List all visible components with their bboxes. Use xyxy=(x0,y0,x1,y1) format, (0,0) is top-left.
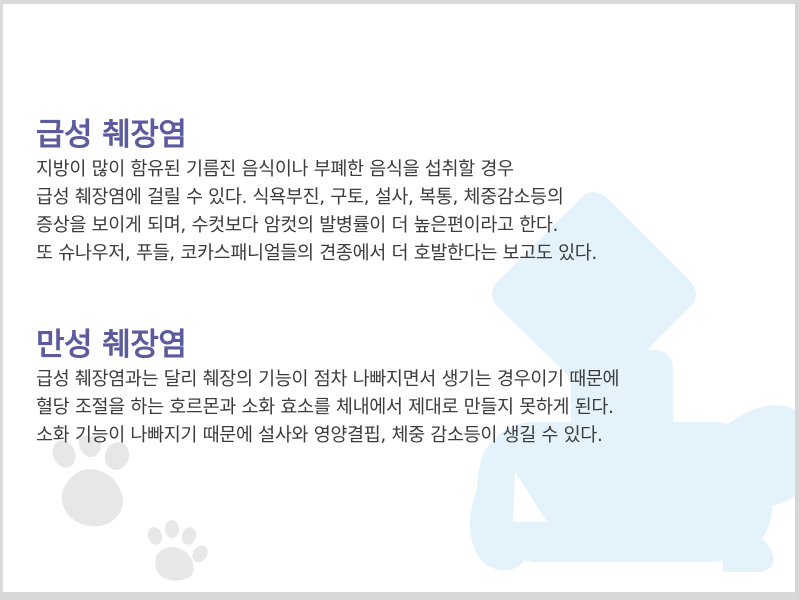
section-chronic-heading: 만성 췌장염 xyxy=(36,326,776,364)
body-line: 지방이 많이 함유된 기름진 음식이나 부폐한 음식을 섭취할 경우 xyxy=(36,156,776,184)
paw-print-small-icon xyxy=(144,519,210,585)
section-acute-body: 지방이 많이 함유된 기름진 음식이나 부폐한 음식을 섭취할 경우 급성 췌장… xyxy=(36,156,776,268)
body-line: 증상을 보이게 되며, 수컷보다 암컷의 발병률이 더 높은편이라고 한다. xyxy=(36,212,776,240)
section-chronic-body: 급성 췌장염과는 달리 췌장의 기능이 점차 나빠지면서 생기는 경우이기 때문… xyxy=(36,366,776,450)
body-line: 급성 췌장염에 걸릴 수 있다. 식욕부진, 구토, 설사, 복통, 체중감소등… xyxy=(36,184,776,212)
body-line: 혈당 조절을 하는 호르몬과 소화 효소를 체내에서 제대로 만들지 못하게 된… xyxy=(36,394,776,422)
section-acute-pancreatitis: 급성 췌장염 지방이 많이 함유된 기름진 음식이나 부폐한 음식을 섭취할 경… xyxy=(36,116,776,268)
body-line: 또 슈나우저, 푸들, 코카스패니얼들의 견종에서 더 호발한다는 보고도 있다… xyxy=(36,240,776,268)
section-acute-heading: 급성 췌장염 xyxy=(36,116,776,154)
body-line: 소화 기능이 나빠지기 때문에 설사와 영양결핍, 체중 감소등이 생길 수 있… xyxy=(36,422,776,450)
slide-canvas: 급성 췌장염 지방이 많이 함유된 기름진 음식이나 부폐한 음식을 섭취할 경… xyxy=(3,4,795,592)
body-line: 급성 췌장염과는 달리 췌장의 기능이 점차 나빠지면서 생기는 경우이기 때문… xyxy=(36,366,776,394)
watermark-layer xyxy=(3,4,795,592)
section-chronic-pancreatitis: 만성 췌장염 급성 췌장염과는 달리 췌장의 기능이 점차 나빠지면서 생기는 … xyxy=(36,326,776,450)
slide-frame: 급성 췌장염 지방이 많이 함유된 기름진 음식이나 부폐한 음식을 섭취할 경… xyxy=(0,0,800,600)
